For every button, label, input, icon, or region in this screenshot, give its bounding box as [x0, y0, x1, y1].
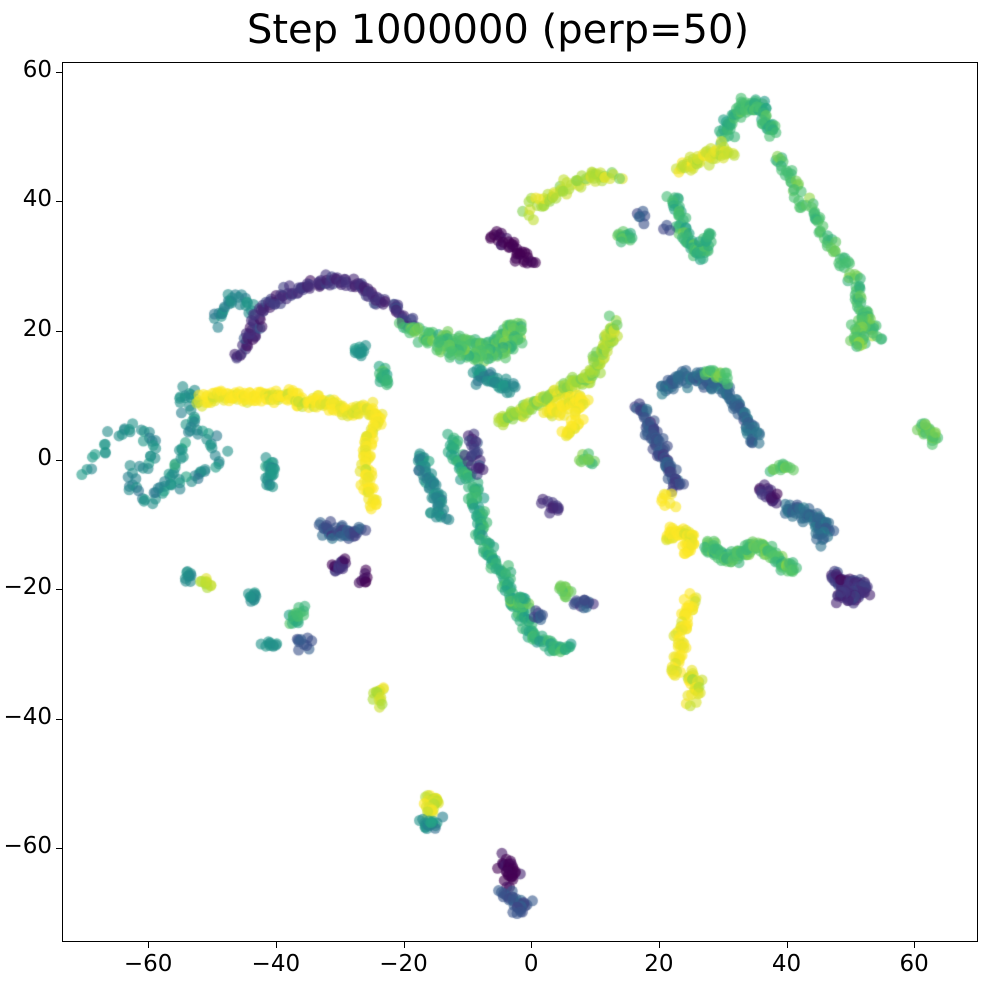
figure-canvas: Step 1000000 (perp=50) −60−40−200204060 … [0, 0, 996, 995]
y-tick-label: −40 [0, 704, 52, 730]
x-tick-mark [787, 942, 788, 948]
x-tick-label: 40 [727, 951, 847, 977]
y-tick-mark [56, 201, 62, 202]
x-tick-mark [276, 942, 277, 948]
y-tick-mark [56, 331, 62, 332]
x-tick-label: −60 [88, 951, 208, 977]
y-tick-label: −60 [0, 833, 52, 859]
y-tick-mark [56, 460, 62, 461]
x-tick-mark [659, 942, 660, 948]
y-tick-mark [56, 72, 62, 73]
y-tick-label: 40 [0, 186, 52, 212]
y-tick-mark [56, 719, 62, 720]
y-tick-label: 0 [0, 445, 52, 471]
x-tick-label: −40 [216, 951, 336, 977]
x-tick-label: −20 [344, 951, 464, 977]
x-tick-label: 60 [854, 951, 974, 977]
x-tick-label: 20 [599, 951, 719, 977]
x-tick-mark [404, 942, 405, 948]
y-tick-label: 20 [0, 316, 52, 342]
y-tick-mark [56, 589, 62, 590]
page-title: Step 1000000 (perp=50) [0, 2, 996, 58]
plot-axes-frame [62, 62, 978, 942]
x-tick-label: 0 [471, 951, 591, 977]
y-tick-mark [56, 848, 62, 849]
x-tick-mark [914, 942, 915, 948]
x-tick-mark [148, 942, 149, 948]
y-tick-label: −20 [0, 574, 52, 600]
scatter-points-layer [63, 63, 978, 942]
y-tick-label: 60 [0, 57, 52, 83]
x-tick-mark [531, 942, 532, 948]
